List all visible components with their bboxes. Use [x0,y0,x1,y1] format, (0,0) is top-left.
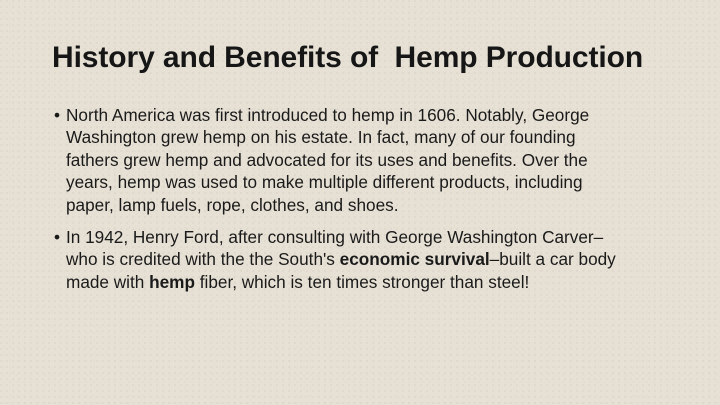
list-item: • North America was first introduced to … [52,104,628,216]
slide-body-content: • North America was first introduced to … [52,104,628,293]
presentation-slide: History and Benefits of Hemp Production … [0,0,720,405]
list-item: • In 1942, Henry Ford, after consulting … [52,226,628,293]
bullet-point-icon: • [54,104,60,126]
bullet-point-icon: • [54,226,60,248]
bullet-paragraph-1: North America was first introduced to he… [66,104,628,216]
bullet-paragraph-2: In 1942, Henry Ford, after consulting wi… [66,226,628,293]
slide-title: History and Benefits of Hemp Production [52,40,682,76]
